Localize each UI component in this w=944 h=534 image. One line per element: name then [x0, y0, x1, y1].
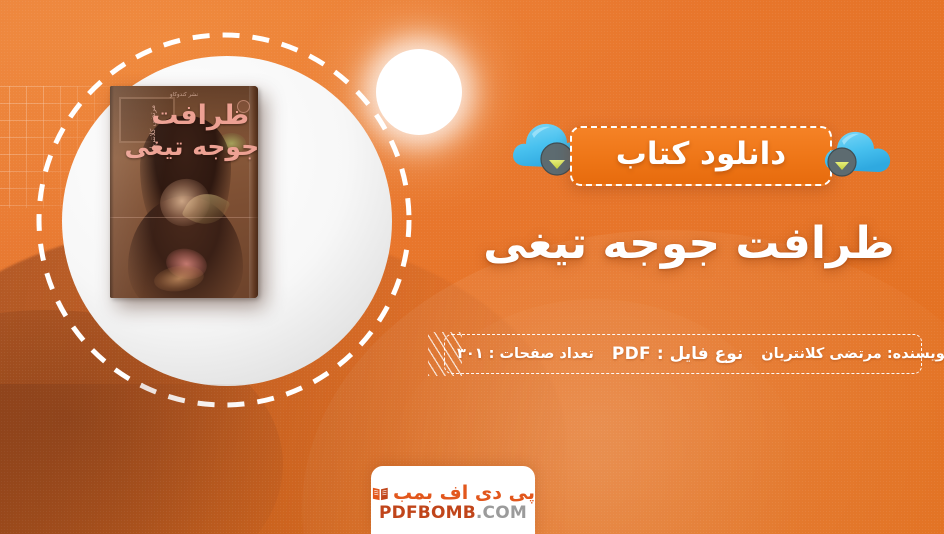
meta-author-value: مرتضی کلانتریان [761, 346, 882, 362]
metadata-box: نویسنده: مرتضی کلانتریان نوع فایل : PDF … [444, 334, 922, 374]
open-book-icon [371, 484, 390, 503]
book-cover-publisher: نشر کندوکاو [170, 92, 198, 98]
meta-filetype-value: PDF [612, 344, 651, 364]
download-button-label: دانلود کتاب [616, 139, 786, 174]
download-row: دانلود کتاب [504, 112, 896, 204]
meta-pages: تعداد صفحات : ۳۰۱ [457, 346, 594, 362]
book-cover-title: ظرافت جوجه تیغی [116, 101, 249, 161]
book-cover-image[interactable]: نشر کندوکاو مرتضی کلانتریان ظرافت جوجه ت… [110, 86, 258, 298]
promo-banner: نشر کندوکاو مرتضی کلانتریان ظرافت جوجه ت… [0, 0, 944, 534]
logo-domain-main: PDFBOMB [379, 503, 476, 523]
download-book-button[interactable]: دانلود کتاب [570, 126, 832, 186]
book-cover-title-line2: جوجه تیغی [116, 133, 258, 161]
meta-author-label: نویسنده: [887, 346, 944, 362]
meta-filetype-label: نوع فایل : [657, 344, 743, 364]
cloud-download-icon-right [822, 126, 896, 178]
book-cover-title-line1: ظرافت [151, 100, 249, 131]
logo-domain-tld: .COM [476, 503, 527, 523]
meta-pages-label: تعداد صفحات : [489, 346, 594, 362]
logo-persian-text: پی دی اف بمب [393, 484, 535, 503]
metadata-strip: نویسنده: مرتضی کلانتریان نوع فایل : PDF … [428, 332, 928, 376]
meta-author: نویسنده: مرتضی کلانتریان [761, 346, 944, 362]
glow-dot-decoration [376, 49, 462, 135]
page-title: ظرافت جوجه تیغی [452, 218, 926, 271]
meta-filetype: نوع فایل : PDF [612, 344, 743, 364]
logo-domain: PDFBOMB.COM [379, 505, 527, 522]
content-column: دانلود کتاب [452, 0, 944, 534]
meta-pages-value: ۳۰۱ [457, 346, 484, 362]
logo-persian-row: پی دی اف بمب [371, 484, 535, 503]
site-logo[interactable]: پی دی اف بمب PDFBOMB.COM [371, 466, 535, 534]
